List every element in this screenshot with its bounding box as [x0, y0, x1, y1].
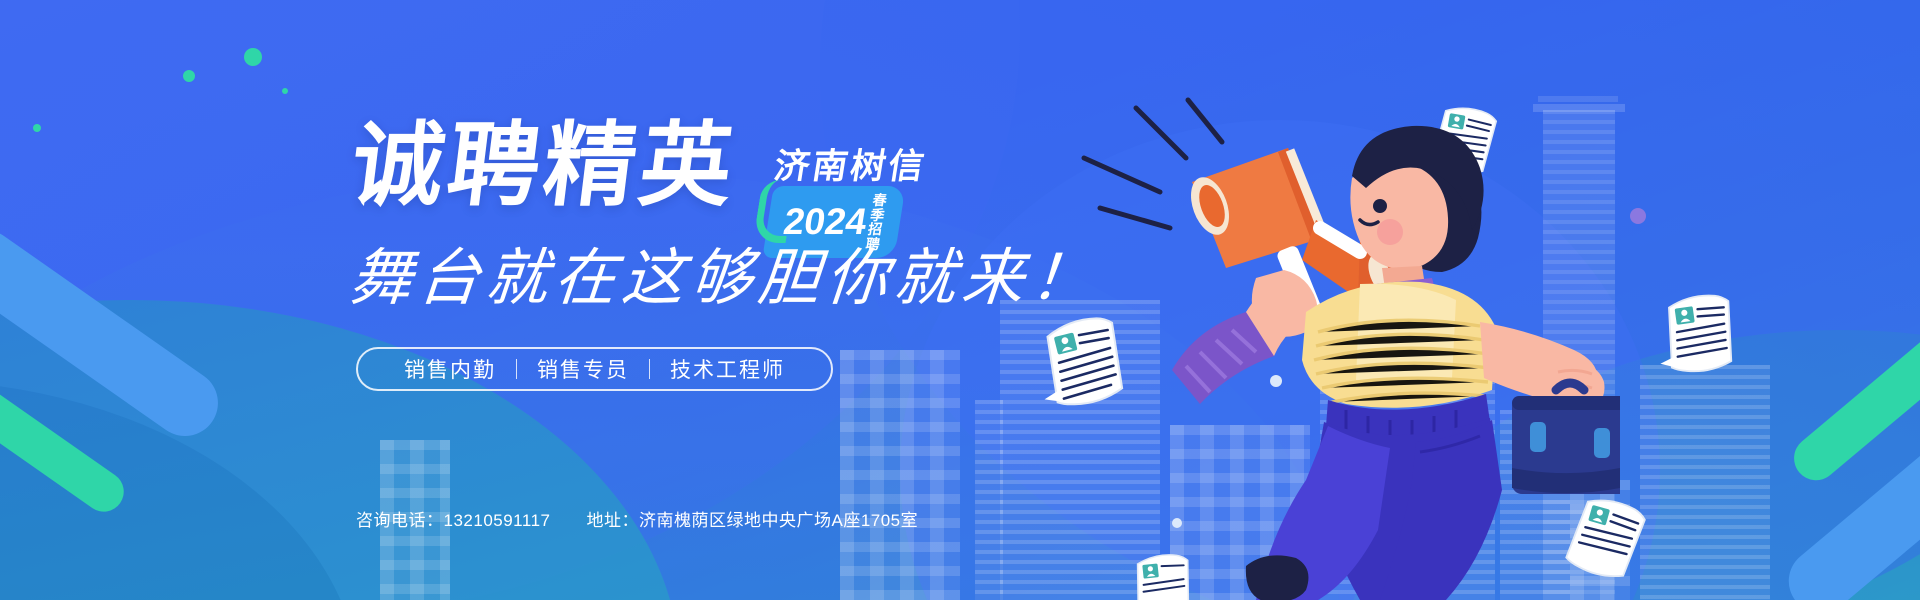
page-subtitle: 舞台就在这够胆你就来！: [347, 248, 1100, 310]
cheek-blush: [1377, 219, 1403, 245]
dot-teal: [282, 88, 288, 94]
shoe: [1246, 555, 1309, 600]
contact-phone: 咨询电话：13210591117: [356, 506, 550, 531]
badge-year: 2024: [781, 203, 869, 240]
dot-teal: [33, 124, 41, 132]
badge-season: 春季: [869, 193, 889, 222]
contact-address: 地址：济南槐荫区绿地中央广场A座1705室: [586, 506, 918, 531]
job-positions-pill: 销售内勤 销售专员 技术工程师: [356, 347, 833, 391]
building-silhouette: [1640, 365, 1770, 600]
eye: [1373, 199, 1387, 213]
building-silhouette: [975, 400, 1003, 600]
recruitment-banner: 诚聘精英 济南树信 2024 春季 招聘 舞台就在这够胆你就来！ 销售内勤 销售…: [0, 0, 1920, 600]
dot-teal: [183, 70, 195, 82]
page-title: 诚聘精英: [346, 120, 741, 212]
job-position-0[interactable]: 销售内勤: [384, 354, 516, 384]
contact-info: 咨询电话：13210591117 地址：济南槐荫区绿地中央广场A座1705室: [356, 506, 918, 531]
job-position-1[interactable]: 销售专员: [517, 354, 649, 384]
dot-teal: [244, 48, 262, 66]
dot-purple: [1630, 208, 1646, 224]
running-businessman-illustration: [1060, 60, 1620, 600]
briefcase-icon: [1512, 383, 1620, 494]
resume-document-icon: [1655, 285, 1750, 385]
building-silhouette: [840, 350, 960, 600]
job-position-2[interactable]: 技术工程师: [650, 354, 805, 384]
